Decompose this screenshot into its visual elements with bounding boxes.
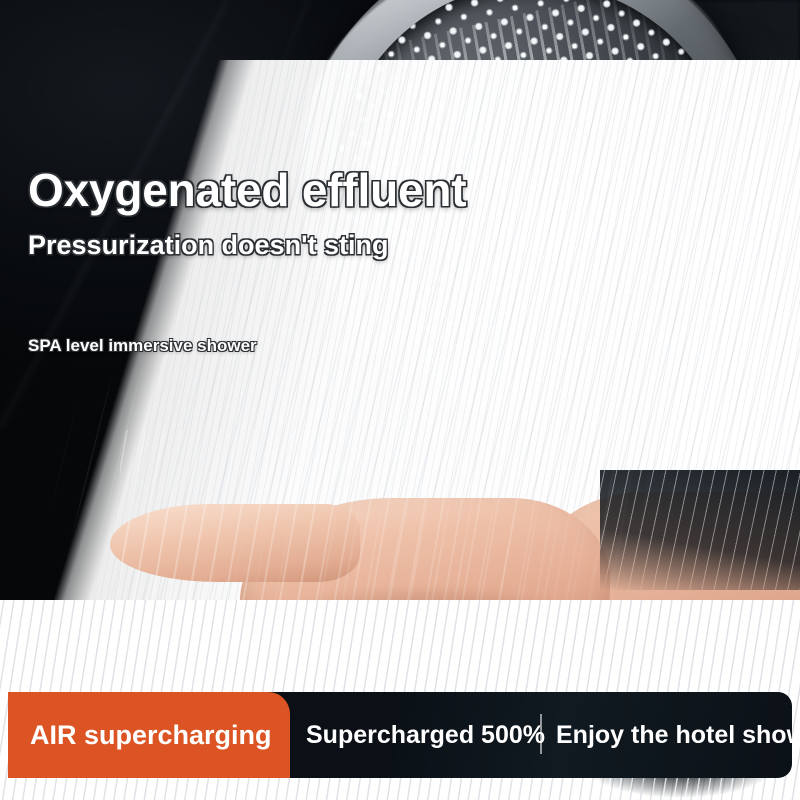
dark-backdrop-strip	[600, 470, 800, 590]
product-ad-canvas: Oxygenated effluent Pressurization doesn…	[0, 0, 800, 800]
banner-divider	[540, 714, 542, 754]
banner-right-label: Enjoy the hotel shower	[556, 692, 800, 778]
feature-banner: AIR supercharging Supercharged 500% Enjo…	[8, 692, 792, 778]
subtitle: Pressurization doesn't sting	[28, 230, 388, 261]
banner-middle-label: Supercharged 500%	[306, 692, 545, 778]
tagline: SPA level immersive shower	[28, 336, 257, 356]
banner-badge-label: AIR supercharging	[30, 692, 272, 778]
page-title: Oxygenated effluent	[28, 163, 466, 217]
